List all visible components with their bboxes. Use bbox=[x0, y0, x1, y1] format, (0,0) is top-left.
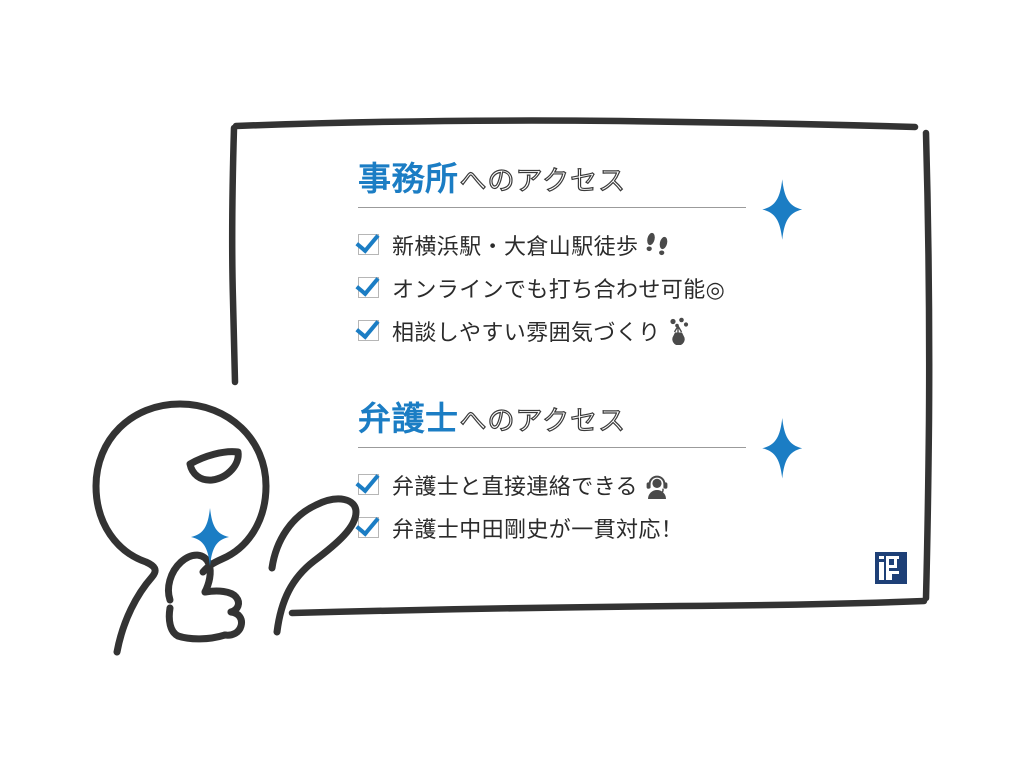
checklist-office: 新横浜駅・大倉山駅徒歩 オンラインでも打ち合わせ可能◎ bbox=[358, 230, 758, 346]
heading-main-text: 事務所 bbox=[358, 160, 459, 198]
checklist-lawyer: 弁護士と直接連絡できる bbox=[358, 470, 758, 543]
list-item-label: 相談しやすい雰囲気づくり bbox=[392, 315, 661, 347]
character-finger-3 bbox=[178, 635, 225, 639]
list-item-label: 弁護士と直接連絡できる bbox=[392, 469, 638, 501]
character-arm bbox=[272, 499, 356, 632]
list-item: 相談しやすい雰囲気づくり bbox=[358, 316, 758, 346]
character-finger-1 bbox=[205, 591, 238, 612]
character-eye bbox=[190, 452, 238, 480]
list-item: 弁護士と直接連絡できる bbox=[358, 470, 758, 500]
checkbox-icon bbox=[358, 474, 379, 495]
heading-sub-text: へのアクセス bbox=[460, 406, 627, 437]
checkbox-icon bbox=[358, 320, 379, 341]
heading-sub-text: へのアクセス bbox=[460, 166, 627, 197]
sparkle-icon-office bbox=[0, 0, 1024, 768]
list-item-label: 弁護士中田剛史が一貫対応！ bbox=[392, 512, 683, 544]
law-office-logo bbox=[875, 552, 907, 584]
checkbox-icon bbox=[358, 277, 379, 298]
list-item: 新横浜駅・大倉山駅徒歩 bbox=[358, 230, 758, 260]
sparkle-icon-character bbox=[191, 508, 229, 566]
checkbox-icon bbox=[358, 234, 379, 255]
section-office-access: 事務所へのアクセス 新横浜駅・大倉山駅徒歩 bbox=[358, 160, 758, 359]
flower-vase-icon bbox=[666, 317, 692, 345]
character-thumb bbox=[168, 555, 210, 600]
list-item-label: オンラインでも打ち合わせ可能◎ bbox=[392, 272, 725, 304]
heading-main-text: 弁護士 bbox=[358, 400, 459, 438]
character-hand-edge bbox=[169, 608, 178, 636]
footprints-icon bbox=[643, 232, 673, 258]
law-office-logo-mark bbox=[875, 552, 907, 584]
section-heading: 事務所へのアクセス bbox=[358, 160, 758, 198]
heading-divider bbox=[358, 207, 746, 208]
list-item: オンラインでも打ち合わせ可能◎ bbox=[358, 273, 758, 303]
section-heading: 弁護士へのアクセス bbox=[358, 400, 758, 438]
sparkle-icon-lawyer bbox=[0, 0, 1024, 768]
headset-person-icon-svg bbox=[643, 471, 671, 499]
checkbox-icon bbox=[358, 517, 379, 538]
headset-person-icon bbox=[643, 471, 671, 499]
character-head-right bbox=[180, 404, 266, 572]
heading-divider bbox=[358, 447, 746, 448]
footprints-icon-svg bbox=[643, 232, 673, 258]
thumbs-up-doodle-character bbox=[0, 0, 1024, 768]
section-lawyer-access: 弁護士へのアクセス 弁護士と直接連絡できる bbox=[358, 400, 758, 556]
slide-canvas: 事務所へのアクセス 新横浜駅・大倉山駅徒歩 bbox=[0, 0, 1024, 768]
list-item: 弁護士中田剛史が一貫対応！ bbox=[358, 513, 758, 543]
flower-vase-icon-svg bbox=[666, 317, 692, 345]
list-item-label: 新横浜駅・大倉山駅徒歩 bbox=[392, 229, 638, 261]
sketch-frame bbox=[0, 0, 1024, 768]
character-finger-2 bbox=[225, 612, 242, 635]
character-head-left bbox=[96, 404, 180, 652]
